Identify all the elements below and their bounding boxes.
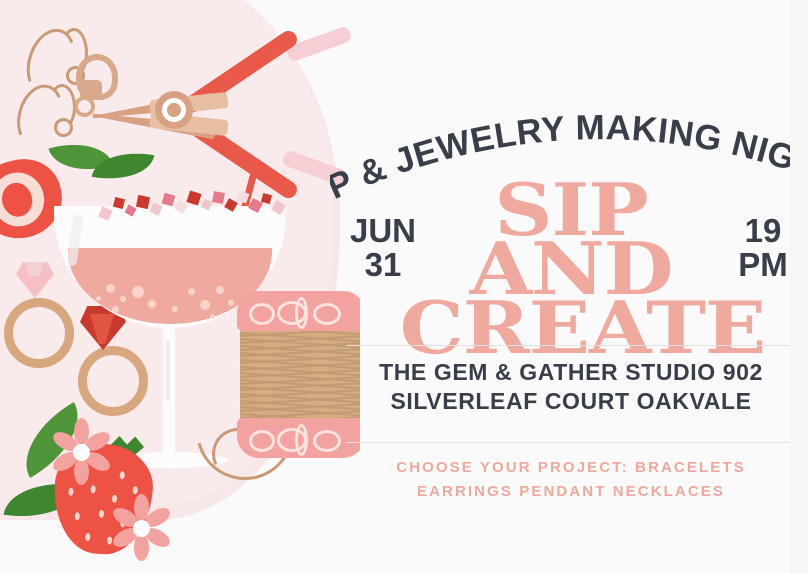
venue-line-1: THE GEM & GATHER STUDIO 902	[346, 358, 796, 387]
main-title: SIP AND CREATE	[418, 180, 724, 357]
right-edge-strip	[790, 0, 808, 573]
time-number: 19	[728, 214, 798, 248]
text-panel: SIP & JEWELRY MAKING NIGHT SIP AND CREAT…	[330, 0, 808, 573]
event-time: 19 PM	[728, 214, 798, 281]
project-options: CHOOSE YOUR PROJECT: BRACELETS EARRINGS …	[346, 456, 796, 505]
date-day: 31	[344, 248, 422, 282]
projects-line-2: EARRINGS PENDANT NECKLACES	[346, 480, 796, 504]
divider-bottom	[346, 442, 796, 443]
projects-line-1: CHOOSE YOUR PROJECT: BRACELETS	[346, 456, 796, 480]
date-month: JUN	[344, 214, 422, 248]
divider-top	[346, 345, 796, 346]
venue-line-2: SILVERLEAF COURT OAKVALE	[346, 387, 796, 416]
title-line-1: SIP AND	[400, 180, 743, 298]
event-date: JUN 31	[344, 214, 422, 281]
illustration-panel	[0, 0, 360, 573]
title-line-2: CREATE	[400, 298, 743, 357]
venue-address: THE GEM & GATHER STUDIO 902 SILVERLEAF C…	[346, 358, 796, 417]
time-meridiem: PM	[728, 248, 798, 282]
poster-canvas: SIP & JEWELRY MAKING NIGHT SIP AND CREAT…	[0, 0, 808, 573]
